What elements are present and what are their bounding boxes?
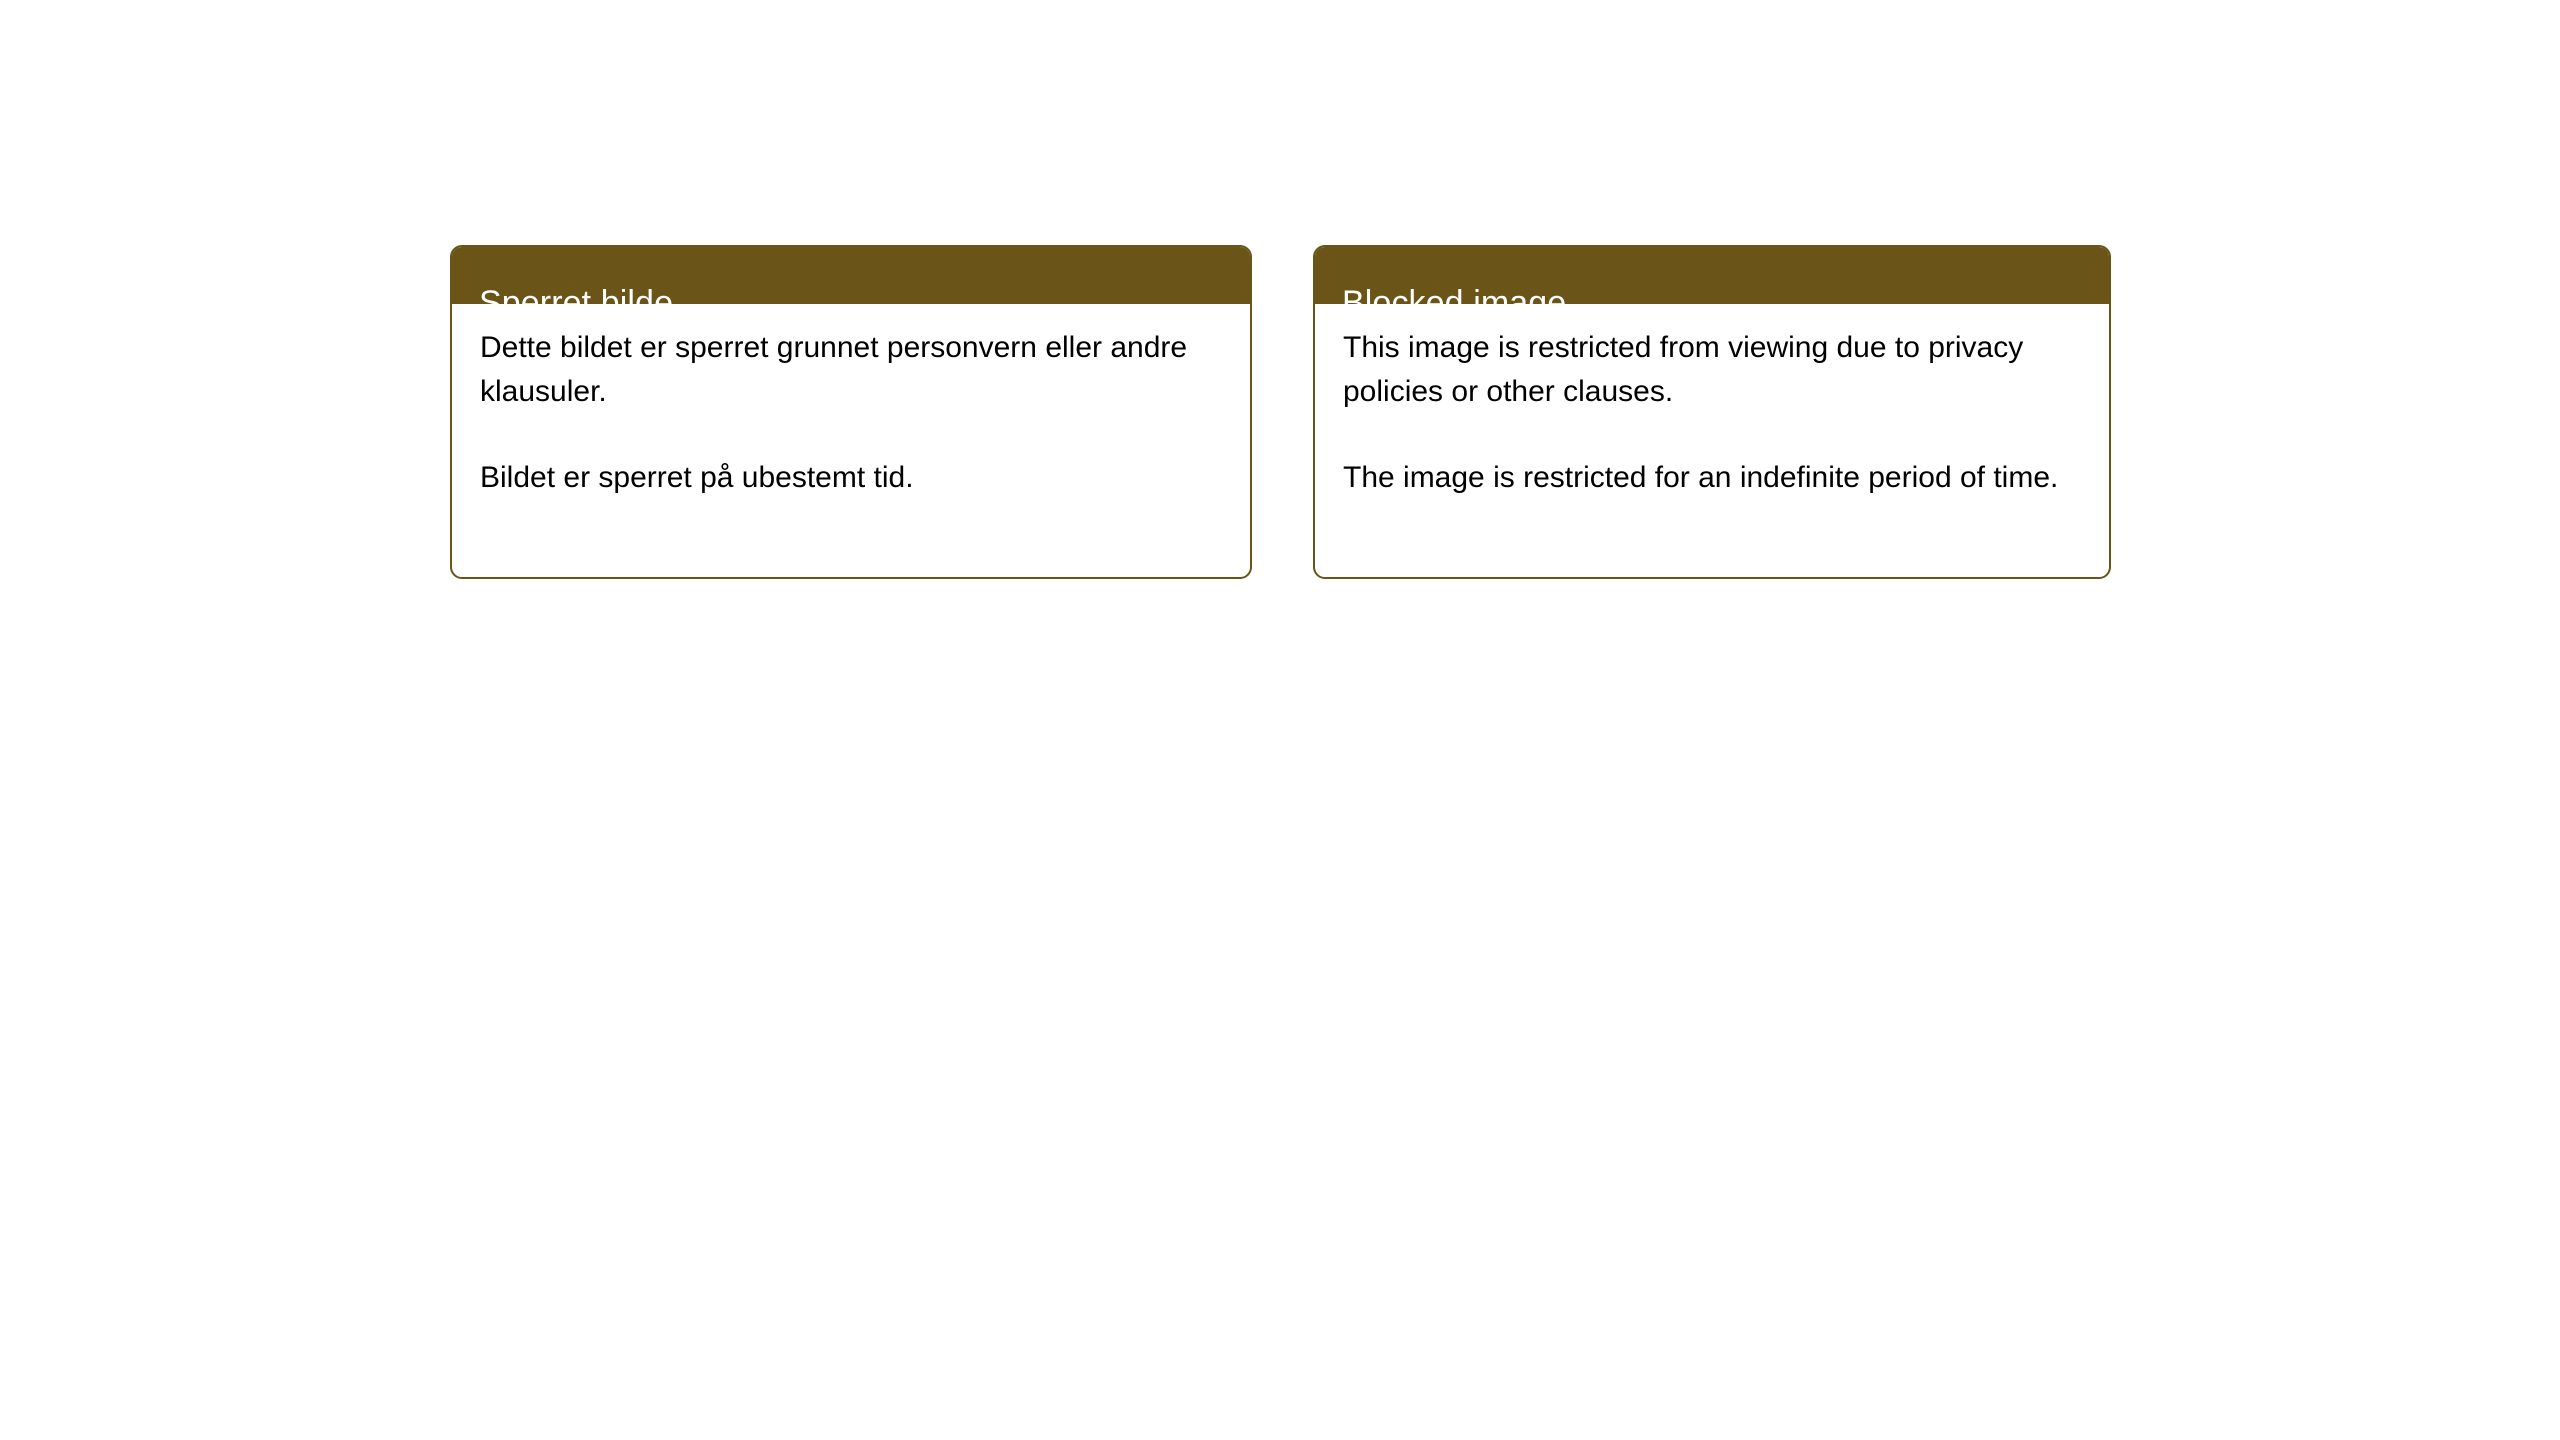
blocked-image-card-english: Blocked image This image is restricted f… (1313, 245, 2111, 579)
card-body-english: This image is restricted from viewing du… (1315, 306, 2109, 577)
card-paragraph-duration-english: The image is restricted for an indefinit… (1343, 456, 2083, 500)
card-header-bar-english: Blocked image (1313, 245, 2111, 304)
card-paragraph-privacy-norwegian: Dette bildet er sperret grunnet personve… (480, 326, 1224, 414)
card-paragraph-duration-norwegian: Bildet er sperret på ubestemt tid. (480, 456, 1224, 500)
blocked-image-notice-area: Sperret bilde Dette bildet er sperret gr… (0, 0, 2560, 1440)
card-header-bar-norwegian: Sperret bilde (450, 245, 1252, 304)
card-paragraph-privacy-english: This image is restricted from viewing du… (1343, 326, 2083, 414)
blocked-image-card-norwegian: Sperret bilde Dette bildet er sperret gr… (450, 245, 1252, 579)
card-body-norwegian: Dette bildet er sperret grunnet personve… (452, 306, 1250, 577)
